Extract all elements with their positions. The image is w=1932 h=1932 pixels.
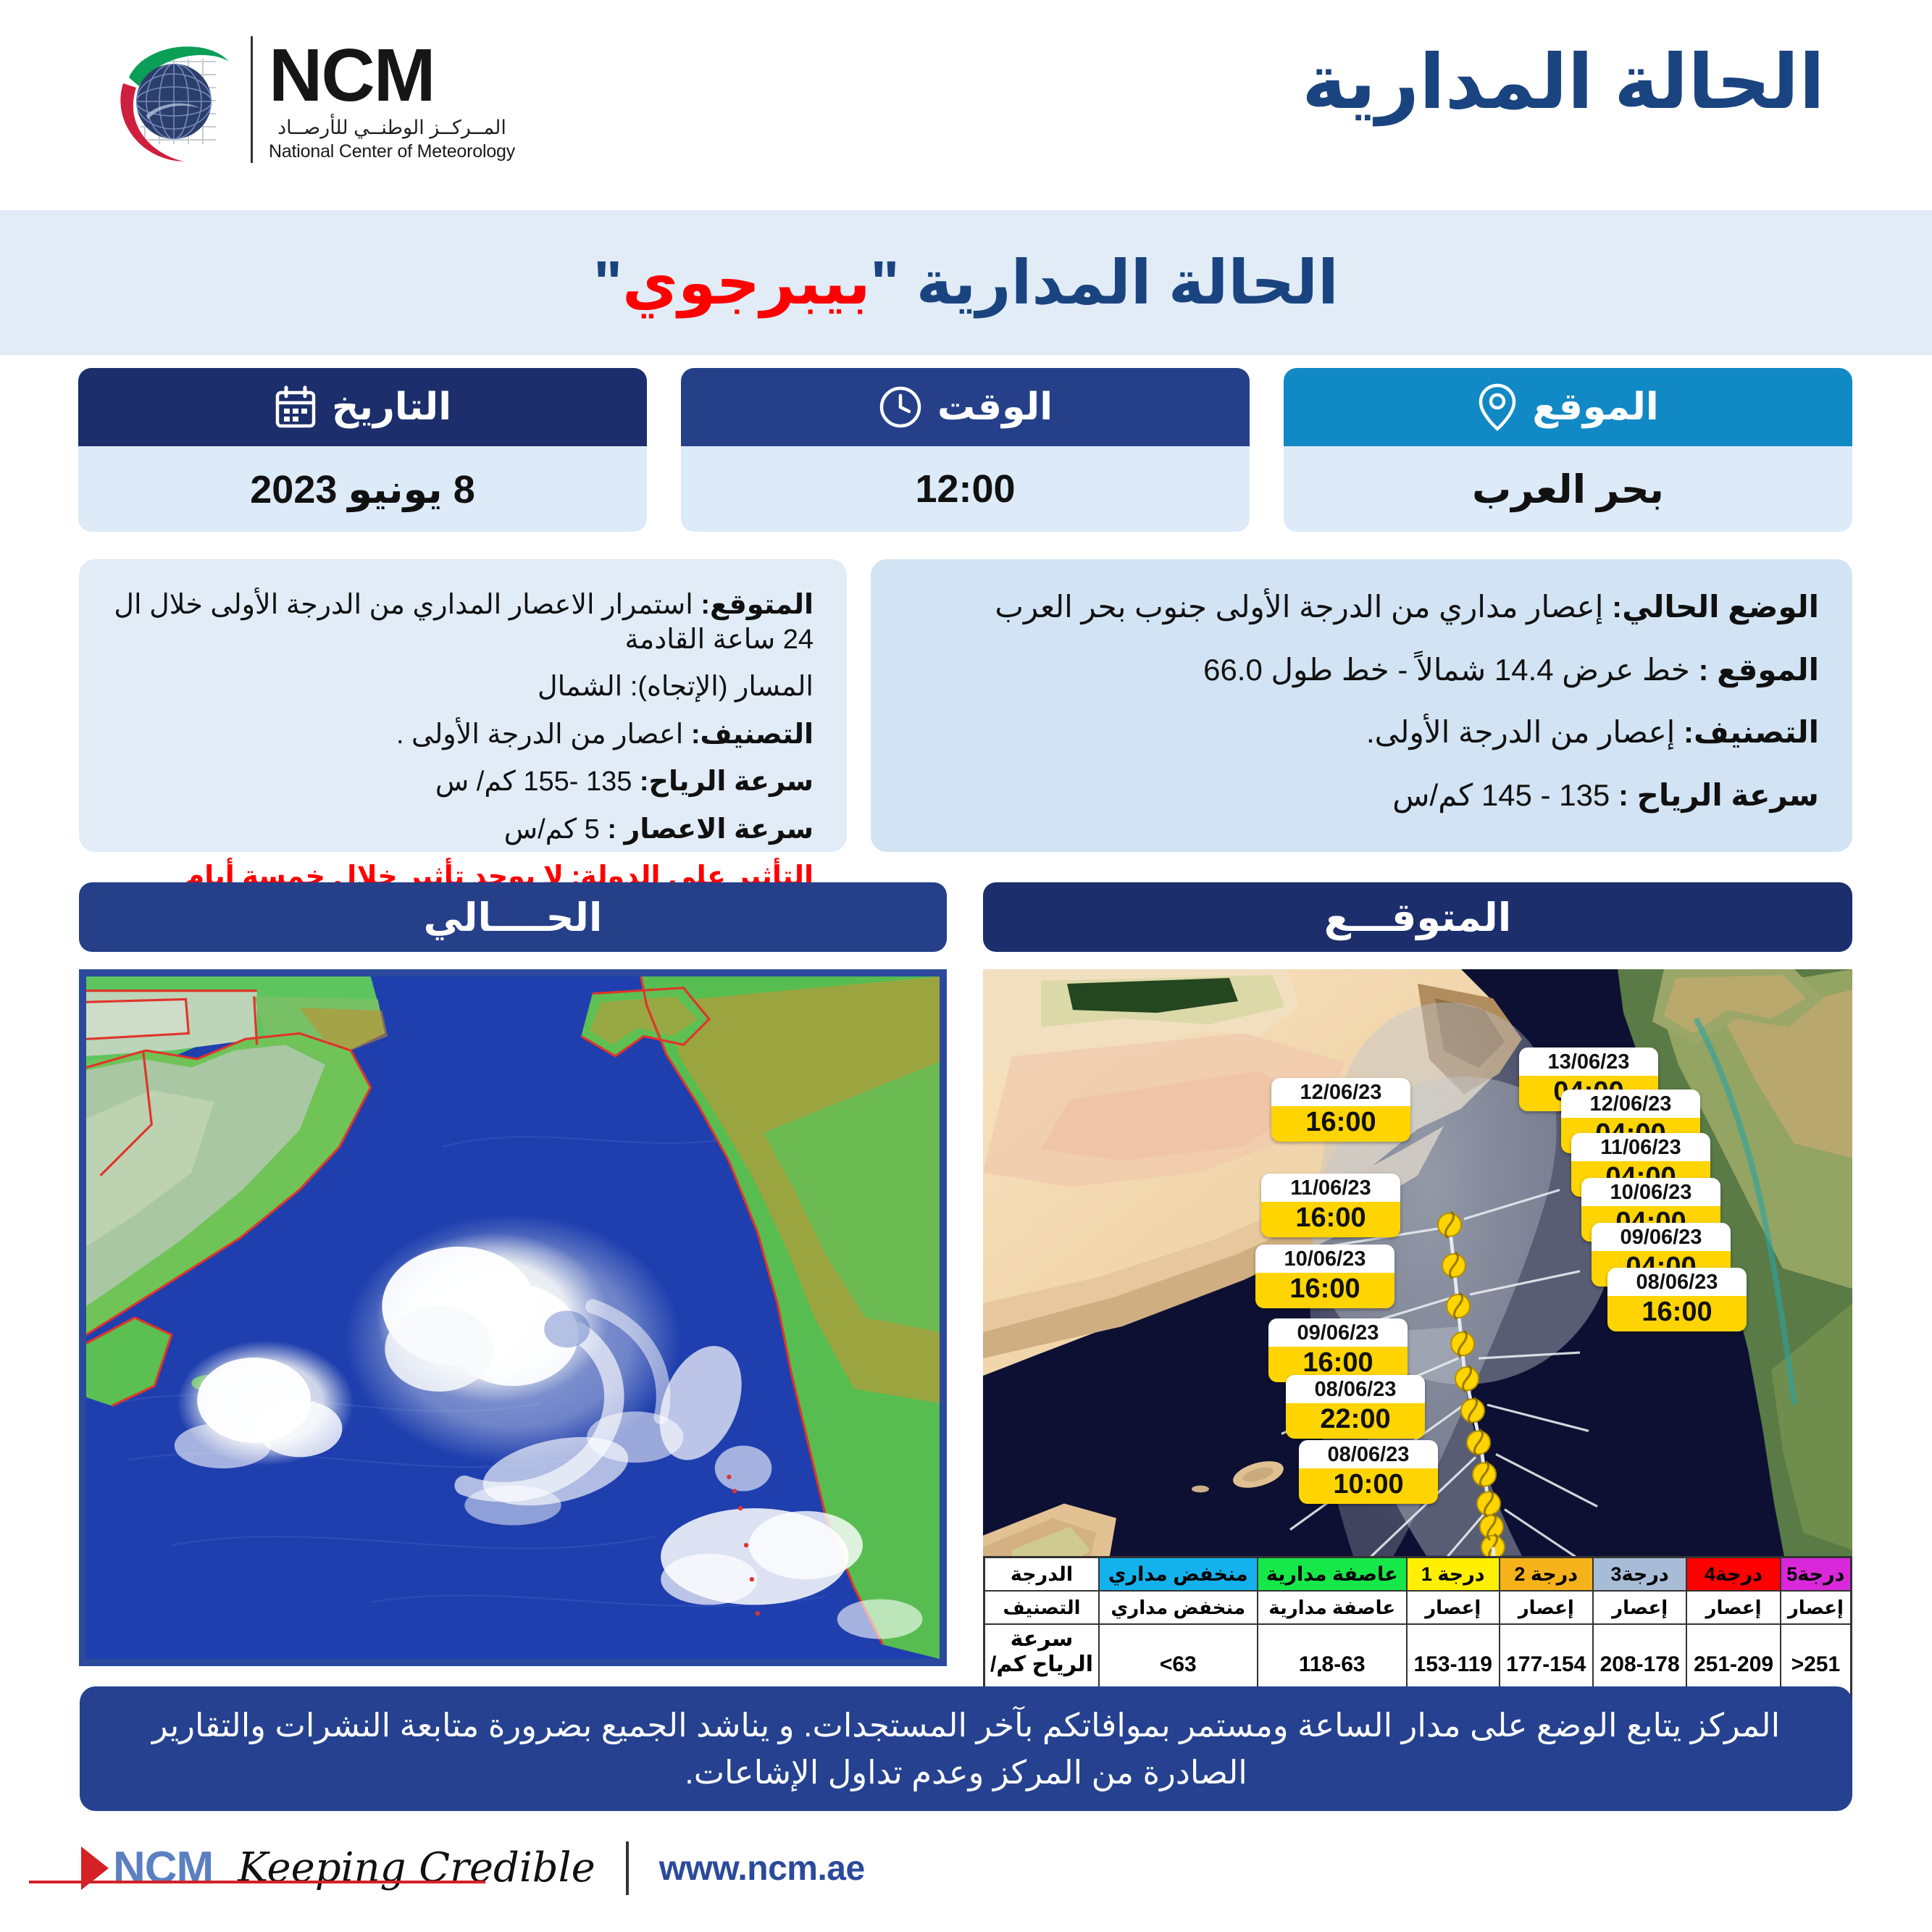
legend-grade: عاصفة مدارية [1258, 1557, 1407, 1592]
track-label-date: 08/06/23 [1286, 1375, 1425, 1403]
section-header-forecast: المتوقـــع [983, 882, 1852, 952]
track-label-date: 12/06/23 [1271, 1078, 1410, 1106]
legend-classification: عاصفة مدارية [1258, 1591, 1407, 1624]
legend-grade: درجة 2 [1500, 1557, 1593, 1592]
track-label-time: 22:00 [1286, 1403, 1425, 1439]
map-pin-icon [1477, 382, 1518, 432]
footer-advisory-banner: المركز يتابع الوضع على مدار الساعة ومستم… [80, 1686, 1852, 1811]
legend-grade: درجة4 [1686, 1557, 1780, 1592]
track-label-date: 12/06/23 [1561, 1090, 1700, 1118]
logo-arabic-text: المــركــز الوطنــي للأرصــاد [269, 117, 515, 139]
current-situation-label: الوضع الحالي: [1612, 590, 1819, 624]
current-location-label: الموقع : [1698, 653, 1819, 687]
track-label-date: 08/06/23 [1299, 1440, 1438, 1468]
forecast-wind-value: 135 -155 كم/ س [435, 766, 632, 797]
card-date: التاريخ 8 يونيو 2023 [78, 368, 647, 532]
track-label-time: 16:00 [1271, 1106, 1410, 1142]
forecast-track-value: الشمال [538, 672, 622, 702]
legend-grade: درجة5 [1781, 1557, 1852, 1592]
card-time: الوقت 12:00 [681, 368, 1250, 532]
clock-icon [878, 385, 923, 430]
footer-ncm-text: NCM [113, 1846, 213, 1891]
footer-divider [626, 1841, 629, 1895]
card-date-header: التاريخ [78, 368, 647, 446]
forecast-classification-label: التصنيف: [691, 719, 814, 750]
legend-classification: إعصار [1500, 1591, 1593, 1624]
forecast-speed-value: 5 كم/س [504, 814, 600, 845]
track-label: 08/06/23 10:00 [1299, 1440, 1438, 1504]
page-title: الحالة المدارية [1302, 38, 1825, 126]
track-label-time: 16:00 [1255, 1273, 1394, 1308]
track-label-date: 08/06/23 [1607, 1268, 1747, 1296]
info-cards: الموقع بحر العرب الوقت 12:00 التاريخ 8 ي… [0, 368, 1932, 542]
track-label-date: 11/06/23 [1571, 1133, 1710, 1161]
card-location-header: الموقع [1284, 368, 1852, 446]
current-wind-row: سرعة الرياح : 135 - 145 كم/س [904, 777, 1819, 815]
current-location-row: الموقع : خط عرض 14.4 شمالاً - خط طول 66.… [904, 651, 1819, 690]
bottom-bar: NCM Keeping Credible www.ncm.ae [0, 1826, 1932, 1932]
forecast-classification-row: التصنيف: اعصار من الدرجة الأولى . [112, 718, 814, 753]
storm-title-band: الحالة المدارية "بيبرجوي" [0, 210, 1932, 355]
track-label: 10/06/23 16:00 [1255, 1245, 1394, 1308]
forecast-expected-row: المتوقع: استمرار الاعصار المداري من الدر… [112, 588, 814, 657]
storm-title-suffix: " [593, 248, 622, 317]
legend-classification: إعصار [1781, 1591, 1852, 1624]
satellite-image [86, 977, 940, 1659]
panel-current-situation: الوضع الحالي: إعصار مداري من الدرجة الأو… [871, 559, 1852, 852]
current-classification-value: إعصار من الدرجة الأولى. [1366, 715, 1675, 749]
forecast-track-row: المسار (الإتجاه): الشمال [112, 670, 814, 705]
ncm-logo: NCM المــركــز الوطنــي للأرصــاد Nation… [107, 33, 515, 167]
track-label-date: 09/06/23 [1592, 1223, 1731, 1251]
track-label: 08/06/23 16:00 [1607, 1268, 1747, 1331]
legend-classification: إعصار [1407, 1591, 1500, 1624]
track-label-date: 11/06/23 [1261, 1174, 1400, 1202]
legend-classification: إعصار [1686, 1591, 1780, 1624]
forecast-speed-label: سرعة الاعصار : [607, 814, 814, 845]
logo-divider [251, 36, 253, 163]
current-situation-value: إعصار مداري من الدرجة الأولى جنوب بحر ال… [995, 590, 1603, 624]
track-label-time: 10:00 [1299, 1468, 1438, 1504]
current-wind-label: سرعة الرياح : [1618, 778, 1819, 812]
legend-grade: درجة 1 [1407, 1557, 1500, 1592]
card-date-value: 8 يونيو 2023 [78, 446, 647, 532]
forecast-expected-label: المتوقع: [701, 590, 814, 620]
footer-url[interactable]: www.ncm.ae [659, 1849, 865, 1889]
forecast-classification-value: اعصار من الدرجة الأولى . [396, 719, 683, 750]
card-time-header: الوقت [681, 368, 1250, 446]
top-header: NCM المــركــز الوطنــي للأرصــاد Nation… [0, 0, 1932, 210]
card-time-label: الوقت [937, 385, 1053, 429]
track-label: 11/06/23 16:00 [1261, 1174, 1400, 1237]
calendar-icon [274, 385, 317, 430]
track-label-date: 10/06/23 [1581, 1178, 1720, 1206]
detail-panels: الوضع الحالي: إعصار مداري من الدرجة الأو… [0, 559, 1932, 863]
track-label-date: 10/06/23 [1255, 1245, 1394, 1273]
logo-english-text: National Center of Meteorology [269, 141, 515, 162]
current-classification-label: التصنيف: [1684, 715, 1819, 749]
card-location-label: الموقع [1532, 385, 1658, 429]
storm-name: بيبرجوي [622, 248, 871, 317]
footer-underline [29, 1881, 485, 1883]
track-label: 12/06/23 16:00 [1271, 1078, 1410, 1142]
card-location-value: بحر العرب [1284, 446, 1852, 532]
legend-row-label-grade: الدرجة [984, 1557, 1100, 1592]
legend-row-grade: درجة5 درجة4 درجة3 درجة 2 درجة 1 عاصفة مد… [984, 1557, 1852, 1592]
footer-advisory-text: المركز يتابع الوضع على مدار الساعة ومستم… [123, 1702, 1809, 1797]
legend-row-classification: إعصار إعصار إعصار إعصار إعصار عاصفة مدار… [984, 1591, 1852, 1624]
forecast-wind-label: سرعة الرياح: [640, 766, 814, 797]
section-header-current: الحــــالي [79, 882, 947, 952]
legend-classification: إعصار [1593, 1591, 1686, 1624]
track-label-date: 09/06/23 [1268, 1318, 1408, 1347]
legend-grade: درجة3 [1593, 1557, 1686, 1592]
track-label: 09/06/23 16:00 [1268, 1318, 1408, 1382]
legend-row-label-classification: التصنيف [984, 1591, 1100, 1624]
track-label-date: 13/06/23 [1519, 1047, 1658, 1076]
forecast-speed-row: سرعة الاعصار : 5 كم/س [112, 813, 814, 848]
current-situation-row: الوضع الحالي: إعصار مداري من الدرجة الأو… [904, 588, 1819, 627]
logo-ncm-text: NCM [269, 38, 515, 112]
play-arrow-icon [81, 1847, 109, 1890]
track-label: 08/06/23 22:00 [1286, 1375, 1425, 1439]
forecast-track-label: المسار (الإتجاه): [630, 672, 814, 702]
current-classification-row: التصنيف: إعصار من الدرجة الأولى. [904, 714, 1819, 752]
ncm-globe-icon [107, 33, 238, 167]
storm-title: الحالة المدارية "بيبرجوي" [593, 247, 1339, 318]
forecast-wind-row: سرعة الرياح: 135 -155 كم/ س [112, 765, 814, 800]
panel-forecast-details: المتوقع: استمرار الاعصار المداري من الدر… [79, 559, 847, 852]
card-time-value: 12:00 [681, 446, 1250, 532]
category-legend-table: درجة5 درجة4 درجة3 درجة 2 درجة 1 عاصفة مد… [983, 1556, 1852, 1706]
current-location-value: خط عرض 14.4 شمالاً - خط طول 66.0 [1203, 653, 1690, 687]
current-satellite-map[interactable] [79, 969, 947, 1666]
card-date-label: التاريخ [332, 385, 451, 429]
track-label-time: 16:00 [1261, 1202, 1400, 1237]
legend-classification: منخفض مداري [1099, 1591, 1258, 1624]
current-wind-value: 135 - 145 كم/س [1392, 778, 1610, 812]
storm-title-prefix: الحالة المدارية " [871, 248, 1339, 317]
legend-grade: منخفض مداري [1099, 1557, 1258, 1592]
track-label-time: 16:00 [1607, 1296, 1747, 1331]
card-location: الموقع بحر العرب [1284, 368, 1852, 532]
